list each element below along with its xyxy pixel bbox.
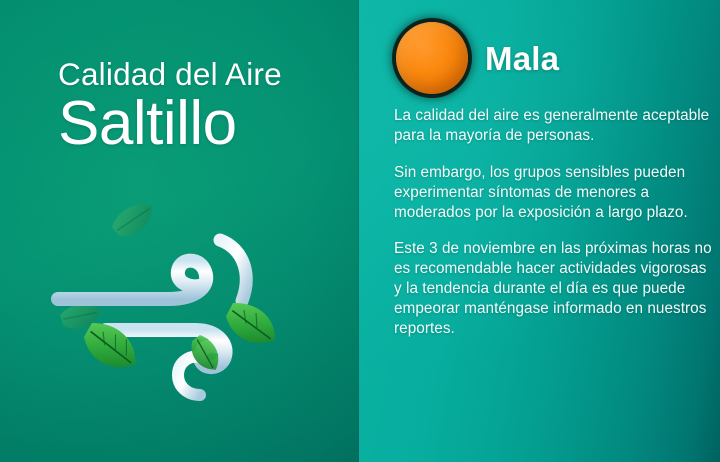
status-badge: Mala	[485, 42, 559, 75]
description-paragraph-2: Sin embargo, los grupos sensibles pueden…	[394, 163, 716, 223]
wind-illustration	[48, 205, 308, 400]
air-quality-status: Mala	[396, 22, 559, 94]
wind-arc-right	[220, 240, 246, 301]
description-text-block: La calidad del aire es generalmente acep…	[394, 106, 716, 339]
description-paragraph-1: La calidad del aire es generalmente acep…	[394, 106, 716, 146]
page-title-group: Calidad del Aire Saltillo	[58, 58, 348, 155]
page-title: Saltillo	[58, 93, 348, 155]
title-subheading: Calidad del Aire	[58, 58, 348, 91]
description-paragraph-3: Este 3 de noviembre en las próximas hora…	[394, 239, 716, 338]
aqi-status-dot-icon	[396, 22, 468, 94]
panel-divider	[358, 0, 359, 462]
air-quality-card: Calidad del Aire Saltillo	[0, 0, 720, 462]
